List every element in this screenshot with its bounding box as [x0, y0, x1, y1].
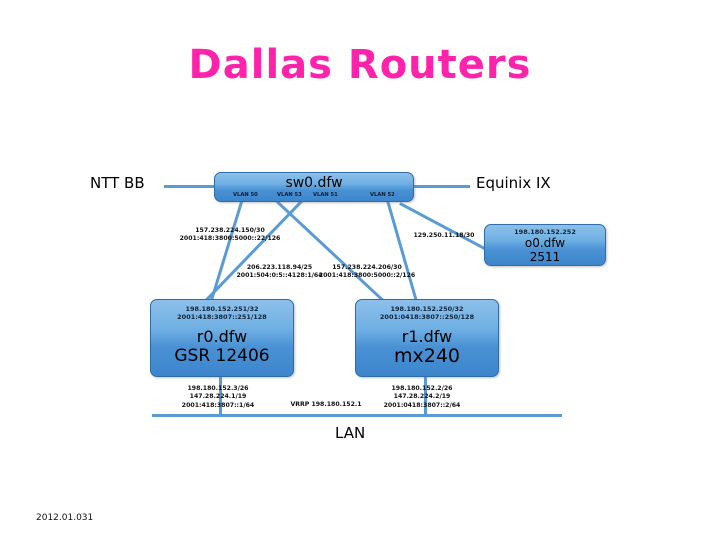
annotation-vrrp-address: VRRP 198.180.152.1: [272, 401, 380, 409]
annotation-oob-link-v4: 129.250.11.18/30: [398, 232, 490, 240]
switch-port-labels: VLAN 50 VLAN 53 VLAN 51 VLAN 52: [215, 192, 415, 202]
node-r0-model: GSR 12406: [151, 346, 293, 366]
node-o0-model: 2511: [485, 250, 605, 264]
slide-canvas: Dallas Routers NTT BB Equinix IX LAN sw0…: [0, 0, 720, 540]
annotation-oob-link: 129.250.11.18/30: [398, 232, 490, 240]
annotation-lan-r1: 198.180.152.2/26 147.28.224.2/19 2001:04…: [362, 385, 482, 410]
annotation-transit-r1-v4: 157.238.224.206/30: [317, 264, 417, 272]
annotation-lan-r1-v4b: 147.28.224.2/19: [362, 393, 482, 401]
node-o0-address: 198.180.152.252: [485, 228, 605, 236]
annotation-ix-peering: 206.223.118.94/25 2001:504:0:5::4128:1/6…: [232, 264, 327, 281]
link-switch-to-equinix: [412, 185, 470, 188]
page-title: Dallas Routers: [0, 42, 720, 88]
node-sw0-name: sw0.dfw: [215, 173, 413, 191]
annotation-ix-peering-v6: 2001:504:0:5::4128:1/64: [232, 272, 327, 280]
annotation-ntt-uplink: 157.238.224.150/30 2001:418:3800:5000::2…: [170, 227, 290, 244]
node-r0-loopback-v4: 198.180.152.251/32: [151, 305, 293, 313]
annotation-lan-r0: 198.180.152.3/26 147.28.224.1/19 2001:41…: [158, 385, 278, 410]
annotation-lan-r1-v4a: 198.180.152.2/26: [362, 385, 482, 393]
annotation-transit-r1-v6: 2001:418:3800:5000::2/126: [317, 272, 417, 280]
link-vlan51-to-r0: [204, 200, 303, 302]
link-vlan52-to-r1: [387, 201, 418, 303]
node-sw0-dfw[interactable]: sw0.dfw VLAN 50 VLAN 53 VLAN 51 VLAN 52: [214, 172, 414, 202]
node-r0-name: r0.dfw: [151, 327, 293, 346]
node-r1-loopback-v4: 198.180.152.250/32: [356, 305, 498, 313]
slide-footer-date: 2012.01.031: [36, 513, 93, 523]
annotation-transit-r1: 157.238.224.206/30 2001:418:3800:5000::2…: [317, 264, 417, 281]
node-o0-name: o0.dfw: [485, 236, 605, 250]
link-switch-to-oob: [399, 202, 485, 249]
link-ntt-to-switch: [164, 185, 216, 188]
node-r1-loopback-v6: 2001:0418:3807::250/128: [356, 313, 498, 321]
node-r0-dfw[interactable]: 198.180.152.251/32 2001:418:3807::251/12…: [150, 299, 294, 377]
annotation-lan-r0-v4a: 198.180.152.3/26: [158, 385, 278, 393]
node-r1-dfw[interactable]: 198.180.152.250/32 2001:0418:3807::250/1…: [355, 299, 499, 377]
link-vlan53-to-r1: [276, 200, 395, 311]
switch-port-vlan51: VLAN 51: [313, 192, 338, 198]
annotation-vrrp: VRRP 198.180.152.1: [272, 401, 380, 409]
annotation-ntt-uplink-v4: 157.238.224.150/30: [170, 227, 290, 235]
label-lan: LAN: [335, 424, 365, 442]
label-ntt-bb: NTT BB: [90, 174, 145, 192]
node-r0-loopback-v6: 2001:418:3807::251/128: [151, 313, 293, 321]
node-r1-name: r1.dfw: [356, 327, 498, 346]
link-vlan50-to-r0: [210, 201, 243, 302]
annotation-lan-r0-v4b: 147.28.224.1/19: [158, 393, 278, 401]
annotation-ix-peering-v4: 206.223.118.94/25: [232, 264, 327, 272]
node-o0-dfw[interactable]: 198.180.152.252 o0.dfw 2511: [484, 224, 606, 266]
label-equinix-ix: Equinix IX: [476, 174, 551, 192]
switch-port-vlan53: VLAN 53: [277, 192, 302, 198]
switch-port-vlan52: VLAN 52: [370, 192, 395, 198]
node-r1-model: mx240: [356, 346, 498, 367]
annotation-ntt-uplink-v6: 2001:418:3800:5000::22/126: [170, 235, 290, 243]
switch-port-vlan50: VLAN 50: [233, 192, 258, 198]
annotation-lan-r0-v6: 2001:418:3807::1/64: [158, 402, 278, 410]
annotation-lan-r1-v6: 2001:0418:3807::2/64: [362, 402, 482, 410]
lan-bus-line: [152, 414, 562, 417]
